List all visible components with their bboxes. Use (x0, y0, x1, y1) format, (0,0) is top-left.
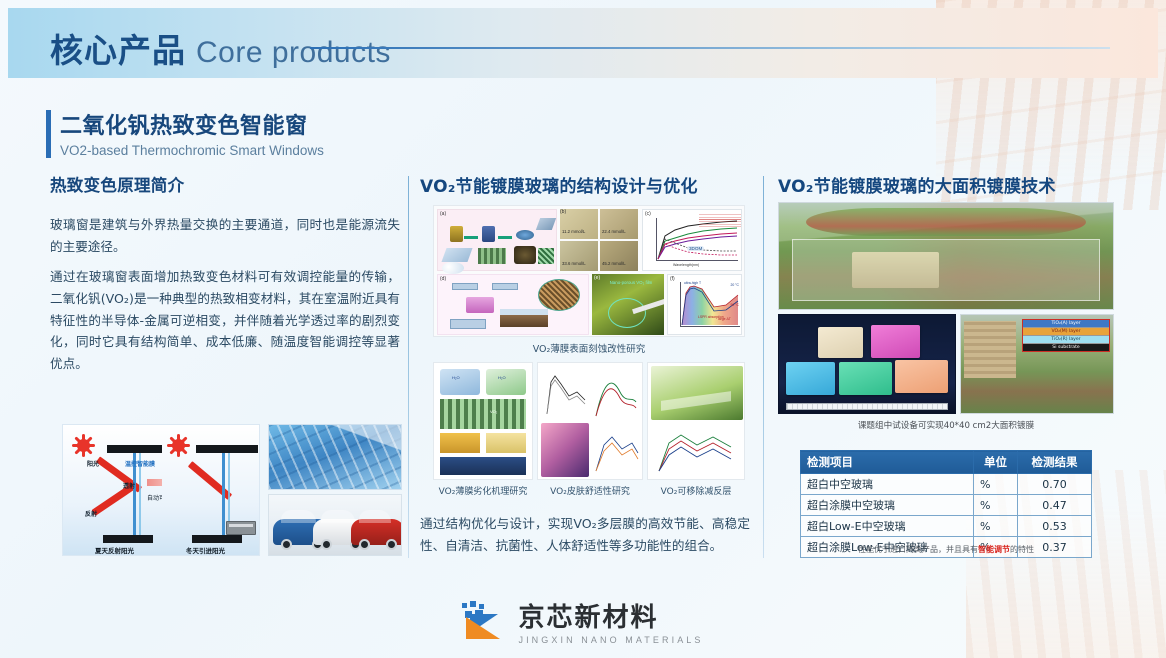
sample-cyan (786, 362, 835, 395)
panel-e-annotation: Nano-porous VO₂ film (608, 280, 654, 285)
photo-cars (268, 494, 402, 556)
ruler (786, 403, 948, 410)
skin-comfort-map (541, 423, 589, 477)
beam-incident-winter (188, 461, 232, 500)
table-header-row: 检测项目 单位 检测结果 (801, 451, 1092, 474)
ar-layer-chart (651, 423, 743, 477)
photo-large-area-coated-glass (778, 202, 1114, 310)
right-column-heading: VO₂节能镀膜玻璃的大面积镀膜技术 (778, 172, 1114, 197)
header-title-en: Core products (196, 36, 391, 69)
brand-name-cn: 京芯新材料 (518, 597, 703, 634)
panel-f-annot-3: large ΔT (718, 317, 731, 321)
column-middle: VO₂节能镀膜玻璃的结构设计与优化 (420, 172, 750, 197)
label-reflect: 反射 (85, 509, 97, 518)
figure-panel-d: (d) (437, 274, 589, 335)
table-footnote: 性能优于进口同类产品，并且具有智能调节的特性 (800, 544, 1092, 555)
heater-unit-winter (226, 521, 256, 535)
cell-result: 0.70 (1018, 474, 1092, 495)
cell-result: 0.47 (1018, 495, 1092, 516)
photo-sports-track (806, 208, 1087, 236)
photo-building (964, 321, 1016, 378)
panel-d-label: (d) (440, 276, 446, 282)
slide-root: 核心产品Core products 二氧化钒热致变色智能窗 VO2-based … (0, 0, 1166, 658)
photo-coating-structure: TiO₂(A) layer VO₂(M) layer TiO₂(R) layer… (960, 314, 1114, 414)
label-smart-film: 温控智能膜 (125, 459, 155, 468)
panel-b-label: (b) (560, 209, 566, 215)
footnote-suffix: 的特性 (1010, 545, 1034, 554)
cell-result: 0.53 (1018, 516, 1092, 537)
footnote-highlight: 智能调节 (978, 545, 1010, 554)
caption-summer: 夏天反射阳光 (95, 545, 134, 555)
panel-f-annot-1: ultra-high T (684, 281, 701, 285)
photo-color-samples (778, 314, 956, 414)
panel-f-annot-4: 20 °C (730, 283, 739, 287)
skin-comfort-chart-3 (592, 423, 640, 477)
label-sunlight-summer: 阳光 (87, 459, 99, 468)
panel-f-annot-5: 90 °C (730, 303, 739, 307)
slide-header: 核心产品Core products (8, 8, 1158, 78)
header-title-cn: 核心产品 (50, 31, 186, 70)
table-header-result: 检测结果 (1018, 451, 1092, 474)
left-figures: 阳光 温控智能膜 透射 反射 夏天反射阳光 自动可逆调控 冬天引进阳光 (62, 424, 402, 556)
section-title-en: VO2-based Thermochromic Smart Windows (60, 143, 324, 158)
ar-layer-schematic (651, 366, 743, 420)
section-title-block: 二氧化钒热致变色智能窗 VO2-based Thermochromic Smar… (46, 108, 324, 158)
figure-top-caption: VO₂薄膜表面刻蚀改性研究 (433, 341, 745, 355)
figure-panel-c-chart: (c) 3DOM Wavelength(nm) (642, 209, 742, 271)
photo-glass-overlay (792, 239, 1099, 300)
ceiling-winter (196, 445, 258, 453)
table-row: 超白涂膜中空玻璃 % 0.47 (801, 495, 1092, 516)
company-logo-icon (462, 601, 508, 641)
left-paragraph-2: 通过在玻璃窗表面增加热致变色材料可有效调控能量的传输，二氧化钒(VO₂)是一种典… (50, 266, 400, 374)
table-header-item: 检测项目 (801, 451, 974, 474)
panel-b-note-4: 45.2 mmol/L (602, 261, 626, 266)
table-row: 超白Low-E中空玻璃 % 0.53 (801, 516, 1092, 537)
figure-caption-ar-layer: VO₂可移除减反层 (647, 484, 745, 497)
panel-b-note-3: 33.6 mmol/L (562, 261, 586, 266)
middle-column-heading: VO₂节能镀膜玻璃的结构设计与优化 (420, 172, 750, 197)
sample-magenta (871, 325, 920, 358)
figure-caption-degradation: VO₂薄膜劣化机理研究 (433, 484, 533, 497)
layer-tio2-a: TiO₂(A) layer (1023, 320, 1109, 328)
car-red (351, 519, 402, 545)
cell-item: 超白Low-E中空玻璃 (801, 516, 974, 537)
cell-item: 超白中空玻璃 (801, 474, 974, 495)
cell-unit: % (974, 516, 1018, 537)
sample-beige (818, 327, 864, 358)
slide-footer: 京芯新材料 JINGXIN NANO MATERIALS (0, 592, 1166, 650)
middle-summary-text: 通过结构优化与设计，实现VO₂多层膜的高效节能、高稳定性、自清洁、抗菌性、人体舒… (420, 513, 750, 556)
layer-si-substrate: Si substrate (1023, 344, 1109, 351)
panel-c-annotation: 3DOM (687, 246, 704, 251)
layer-vo2-m: VO₂(M) layer (1023, 328, 1109, 336)
section-rule (310, 47, 1110, 49)
glass-pane-winter (222, 451, 225, 535)
cell-item: 超白涂膜中空玻璃 (801, 495, 974, 516)
figure-panel-f-chart: (f) ultra-high T LSPR absorption large Δ… (667, 274, 742, 335)
floor-summer (103, 535, 153, 543)
brand-name-en: JINGXIN NANO MATERIALS (518, 635, 703, 645)
panel-a-label: (a) (440, 211, 446, 217)
figure-caption-skin-comfort: VO₂皮肤舒适性研究 (537, 484, 643, 497)
figure-vo2-etching-study: (a) (b) 11.2 mmol/L 22.4 mmol/L 33.6 mmo… (433, 205, 745, 337)
column-right: VO₂节能镀膜玻璃的大面积镀膜技术 TiO₂(A) layer VO₂(M) l… (778, 172, 1114, 197)
figure-panel-a: (a) (437, 209, 557, 271)
column-left: 热致变色原理简介 玻璃窗是建筑与外界热量交换的主要通道，同时也是能源流失的主要途… (50, 172, 400, 375)
column-divider-2 (763, 176, 764, 558)
panel-b-note-2: 22.4 mmol/L (602, 229, 626, 234)
panel-c-xlabel: Wavelength(nm) (673, 263, 699, 267)
label-transmit: 透射 (123, 481, 135, 490)
table-row: 超白中空玻璃 % 0.70 (801, 474, 1092, 495)
figure-degradation-mechanism: H₂O H₂O VO₂ (433, 362, 533, 480)
skin-comfort-chart-1 (541, 366, 589, 420)
skin-comfort-chart-2 (592, 366, 640, 420)
right-photo-caption: 课题组中试设备可实现40*40 cm2大面积镀膜 (778, 419, 1114, 431)
sample-peach (895, 360, 948, 393)
thermochromic-principle-illustration-winter: 冬天引进阳光 (162, 424, 260, 556)
section-title-cn: 二氧化钒热致变色智能窗 (60, 108, 324, 140)
sun-icon-winter (172, 439, 185, 452)
sun-icon-summer (77, 439, 90, 452)
figure-panel-e-photo: (e) Nano-porous VO₂ film (592, 274, 664, 335)
section-accent-bar (46, 110, 51, 158)
sample-green (839, 362, 892, 395)
layer-tio2-r: TiO₂(R) layer (1023, 336, 1109, 344)
panel-b-note-1: 11.2 mmol/L (562, 229, 585, 234)
left-paragraph-1: 玻璃窗是建筑与外界热量交换的主要通道，同时也是能源流失的主要途径。 (50, 214, 400, 257)
figure-panel-b: (b) 11.2 mmol/L 22.4 mmol/L 33.6 mmol/L … (560, 209, 638, 271)
company-logo-text: 京芯新材料 JINGXIN NANO MATERIALS (518, 597, 703, 645)
cell-unit: % (974, 495, 1018, 516)
floor-winter (192, 535, 242, 543)
left-column-heading: 热致变色原理简介 (50, 172, 400, 196)
layer-stack-diagram: TiO₂(A) layer VO₂(M) layer TiO₂(R) layer… (1022, 319, 1110, 352)
figure-removable-ar-layer (647, 362, 745, 480)
table-header-unit: 单位 (974, 451, 1018, 474)
column-divider-1 (408, 176, 409, 558)
figure-skin-comfort (537, 362, 643, 480)
cell-unit: % (974, 474, 1018, 495)
caption-winter: 冬天引进阳光 (186, 545, 225, 555)
panel-e-label: (e) (594, 275, 600, 281)
footnote-prefix: 性能优于进口同类产品，并且具有 (858, 545, 978, 554)
test-results-table: 检测项目 单位 检测结果 超白中空玻璃 % 0.70 超白涂膜中空玻璃 % 0.… (800, 450, 1092, 558)
photo-glass-curtain-building (268, 424, 402, 490)
